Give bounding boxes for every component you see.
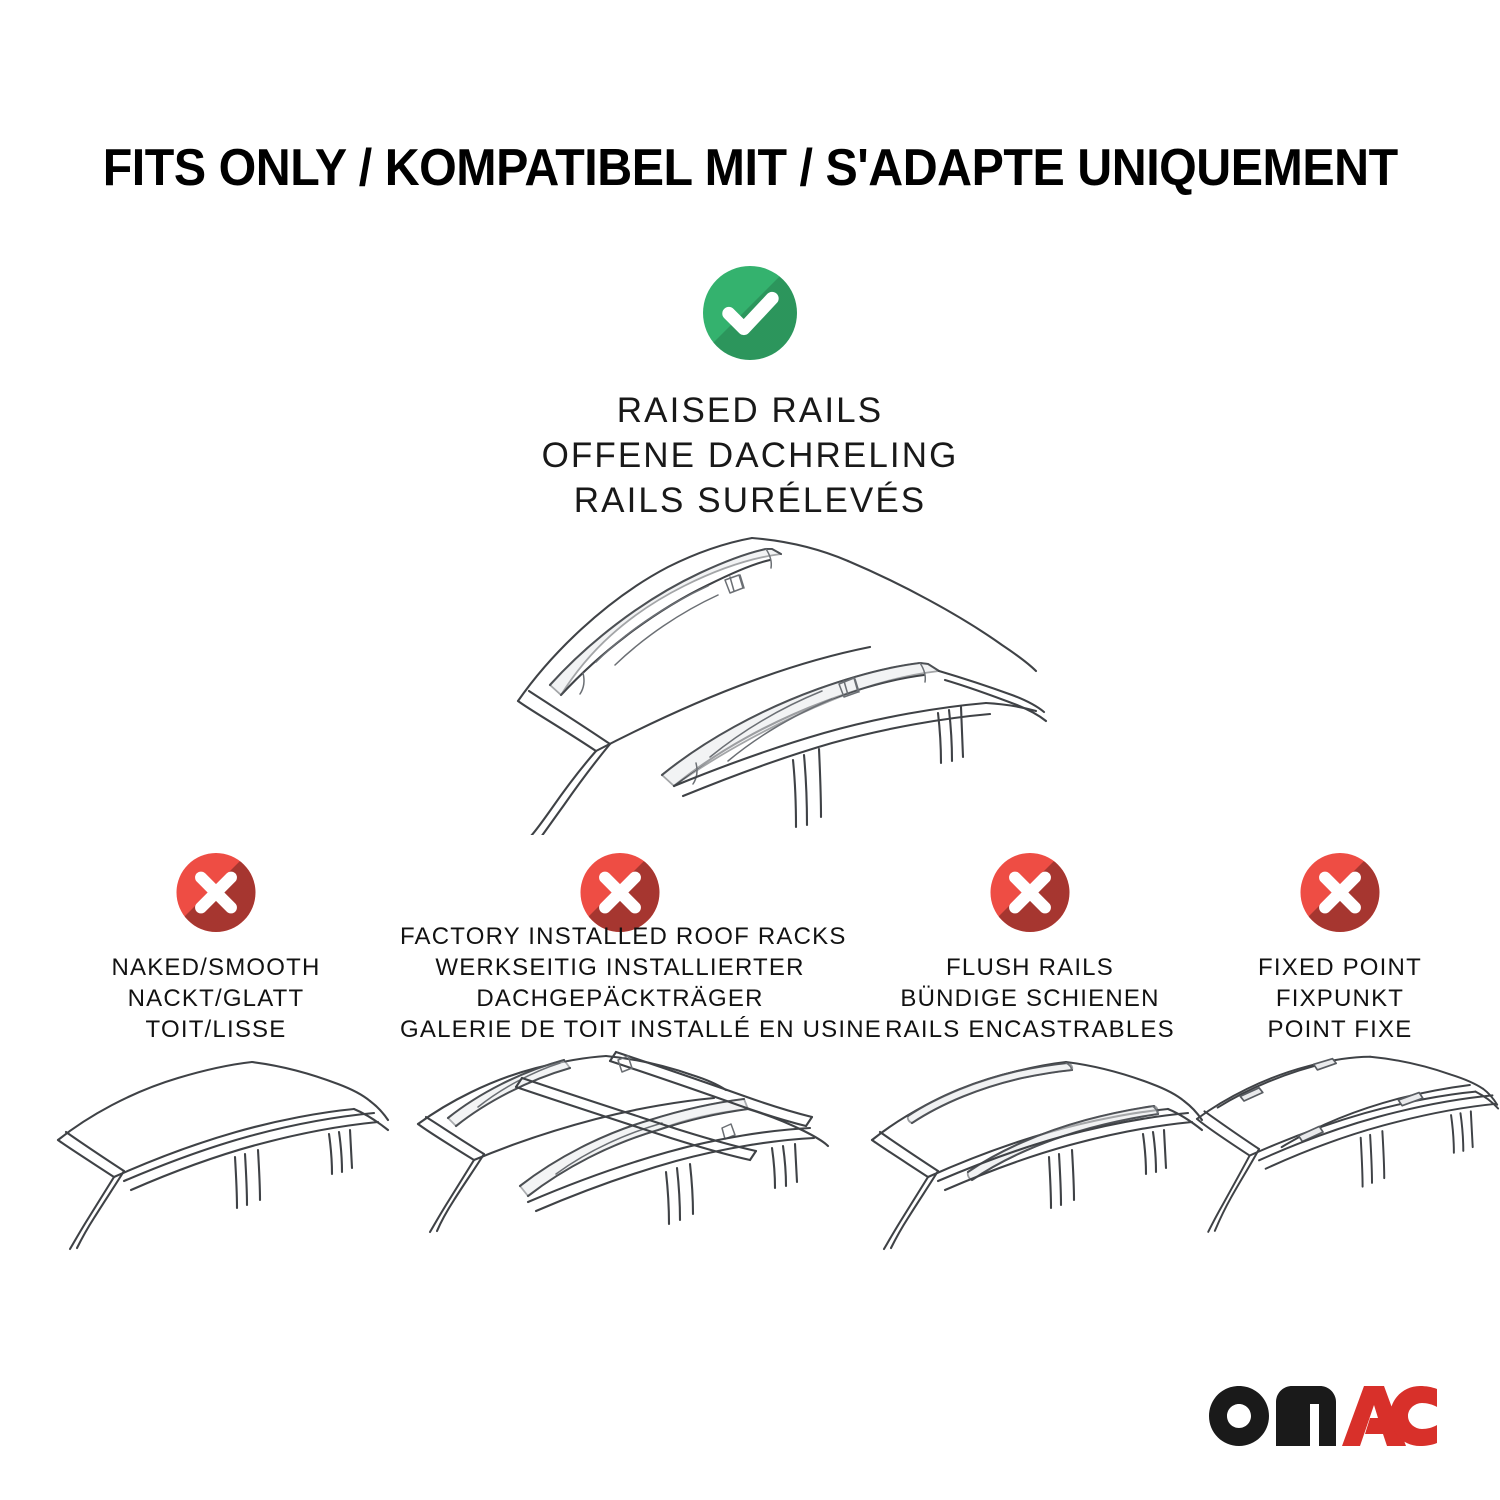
page-title: FITS ONLY / KOMPATIBEL MIT / S'ADAPTE UN… bbox=[103, 138, 1398, 198]
nofit-label-en: FIXED POINT bbox=[1180, 952, 1500, 983]
fits-label-de: OFFENE DACHRELING bbox=[0, 433, 1500, 478]
cross-circle-icon bbox=[177, 853, 256, 932]
omac-logo bbox=[1208, 1384, 1438, 1448]
raised-rails-illustration bbox=[400, 505, 1100, 835]
nofit-head: FIXED POINT FIXPUNKT POINT FIXE bbox=[1180, 845, 1500, 1045]
omac-letter-o bbox=[1209, 1386, 1269, 1446]
nofit-head: FACTORY INSTALLED ROOF RACKS WERKSEITIG … bbox=[400, 845, 840, 1045]
check-circle-icon bbox=[703, 266, 797, 360]
nofit-label-group: NAKED/SMOOTH NACKT/GLATT TOIT/LISSE bbox=[36, 952, 396, 1045]
factory-roof-racks-illustration bbox=[400, 1050, 840, 1280]
fits-label-en: RAISED RAILS bbox=[0, 388, 1500, 433]
nofit-label-de-1: WERKSEITIG INSTALLIERTER bbox=[400, 952, 840, 983]
fixed-point-illustration bbox=[1180, 1050, 1500, 1280]
nofit-label-fr: GALERIE DE TOIT INSTALLÉ EN USINE bbox=[400, 1014, 840, 1045]
title-bar: FITS ONLY / KOMPATIBEL MIT / S'ADAPTE UN… bbox=[0, 103, 1500, 233]
nofit-label-group: FACTORY INSTALLED ROOF RACKS WERKSEITIG … bbox=[400, 921, 840, 1045]
flush-rails-illustration bbox=[850, 1050, 1210, 1280]
nofit-label-de: FIXPUNKT bbox=[1180, 983, 1500, 1014]
nofit-label-en: FACTORY INSTALLED ROOF RACKS bbox=[400, 921, 840, 952]
nofit-column-fixed-point: FIXED POINT FIXPUNKT POINT FIXE bbox=[1180, 845, 1500, 1465]
nofit-head: FLUSH RAILS BÜNDIGE SCHIENEN RAILS ENCAS… bbox=[850, 845, 1210, 1045]
nofit-label-fr: POINT FIXE bbox=[1180, 1014, 1500, 1045]
nofit-label-en: NAKED/SMOOTH bbox=[36, 952, 396, 983]
nofit-label-group: FLUSH RAILS BÜNDIGE SCHIENEN RAILS ENCAS… bbox=[850, 952, 1210, 1045]
nofit-label-en: FLUSH RAILS bbox=[850, 952, 1210, 983]
nofit-column-factory-racks: FACTORY INSTALLED ROOF RACKS WERKSEITIG … bbox=[400, 845, 840, 1465]
nofit-label-de-2: DACHGEPÄCKTRÄGER bbox=[400, 983, 840, 1014]
omac-logo-mark bbox=[1208, 1384, 1438, 1448]
nofit-head: NAKED/SMOOTH NACKT/GLATT TOIT/LISSE bbox=[36, 845, 396, 1045]
cross-circle-icon bbox=[991, 853, 1070, 932]
naked-smooth-illustration bbox=[36, 1050, 396, 1280]
nofit-column-naked-smooth: NAKED/SMOOTH NACKT/GLATT TOIT/LISSE bbox=[36, 845, 396, 1465]
does-not-fit-section: NAKED/SMOOTH NACKT/GLATT TOIT/LISSE bbox=[0, 845, 1500, 1465]
nofit-label-fr: RAILS ENCASTRABLES bbox=[850, 1014, 1210, 1045]
nofit-column-flush-rails: FLUSH RAILS BÜNDIGE SCHIENEN RAILS ENCAS… bbox=[850, 845, 1210, 1465]
fits-section: RAISED RAILS OFFENE DACHRELING RAILS SUR… bbox=[0, 266, 1500, 523]
nofit-label-group: FIXED POINT FIXPUNKT POINT FIXE bbox=[1180, 952, 1500, 1045]
nofit-label-fr: TOIT/LISSE bbox=[36, 1014, 396, 1045]
nofit-label-de: BÜNDIGE SCHIENEN bbox=[850, 983, 1210, 1014]
fits-label-group: RAISED RAILS OFFENE DACHRELING RAILS SUR… bbox=[0, 388, 1500, 523]
nofit-label-de: NACKT/GLATT bbox=[36, 983, 396, 1014]
cross-circle-icon bbox=[1301, 853, 1380, 932]
